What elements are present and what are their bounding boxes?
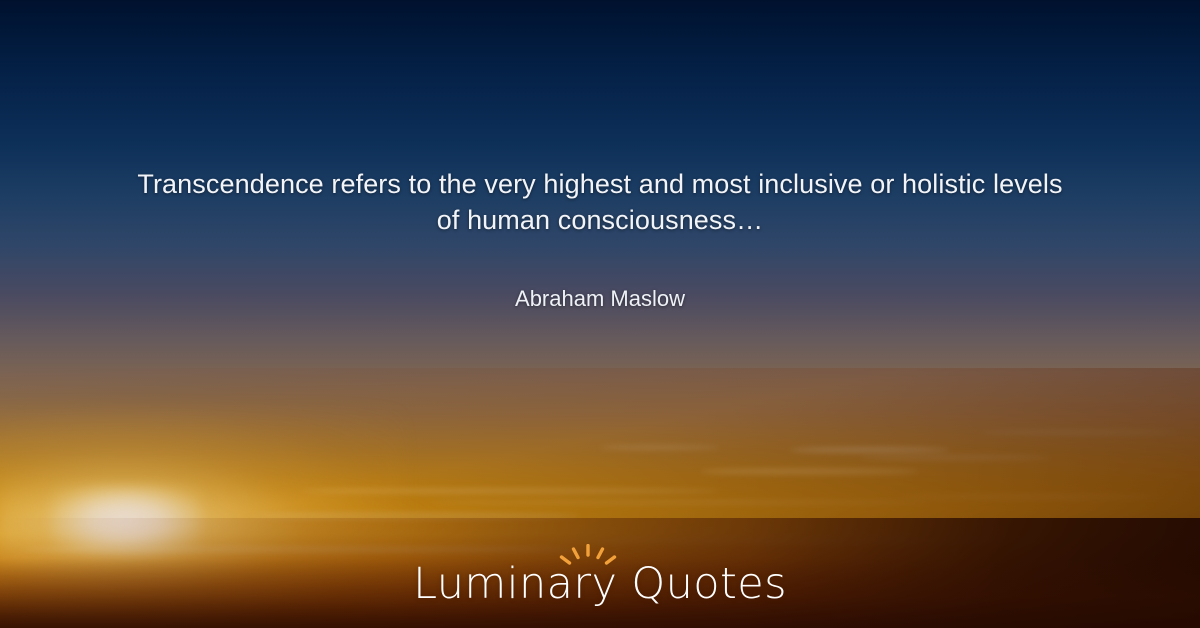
brand-logo[interactable]: LuminaryQuotes (0, 554, 1200, 614)
quote-card: Transcendence refers to the very highest… (0, 0, 1200, 628)
brand-word-luminary: Luminary (413, 559, 617, 609)
brand-logo-inner: LuminaryQuotes (413, 558, 787, 610)
quote-line-1: Transcendence refers to the very highest… (70, 166, 1130, 202)
quote-block: Transcendence refers to the very highest… (0, 166, 1200, 238)
brand-word-quotes: Quotes (631, 559, 787, 609)
quote-line-2: of human consciousness… (70, 202, 1130, 238)
author-name: Abraham Maslow (0, 284, 1200, 314)
